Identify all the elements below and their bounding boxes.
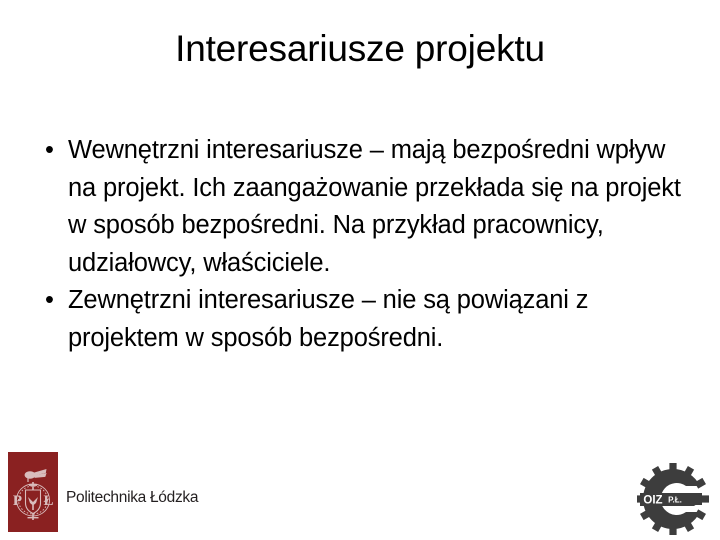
department-logo-primary-label: OIZ bbox=[643, 494, 662, 506]
bullet-marker-icon: • bbox=[45, 282, 54, 320]
gear-logo-icon: OIZ P.Ł. bbox=[634, 460, 712, 536]
bullet-text-external-stakeholders: Zewnętrzni interesariusze – nie są powią… bbox=[68, 282, 694, 357]
list-item: • Zewnętrzni interesariusze – nie są pow… bbox=[34, 282, 694, 357]
list-item: • Wewnętrzni interesariusze – mają bezpo… bbox=[34, 132, 694, 282]
university-logo-label: Politechnika Łódzka bbox=[66, 488, 198, 508]
bullet-text-internal-stakeholders: Wewnętrzni interesariusze – mają bezpośr… bbox=[68, 132, 694, 282]
department-logo: OIZ P.Ł. bbox=[634, 460, 712, 536]
svg-text:Ł: Ł bbox=[43, 493, 53, 509]
svg-text:P: P bbox=[13, 493, 22, 509]
slide-canvas: Interesariusze projektu • Wewnętrzni int… bbox=[0, 0, 720, 540]
department-logo-secondary-label: P.Ł. bbox=[668, 496, 682, 505]
university-logo-box: P Ł bbox=[8, 452, 58, 532]
bullet-list: • Wewnętrzni interesariusze – mają bezpo… bbox=[34, 132, 694, 357]
bullet-marker-icon: • bbox=[45, 132, 54, 170]
page-title: Interesariusze projektu bbox=[0, 26, 720, 72]
university-crest-icon: P Ł bbox=[8, 452, 58, 532]
